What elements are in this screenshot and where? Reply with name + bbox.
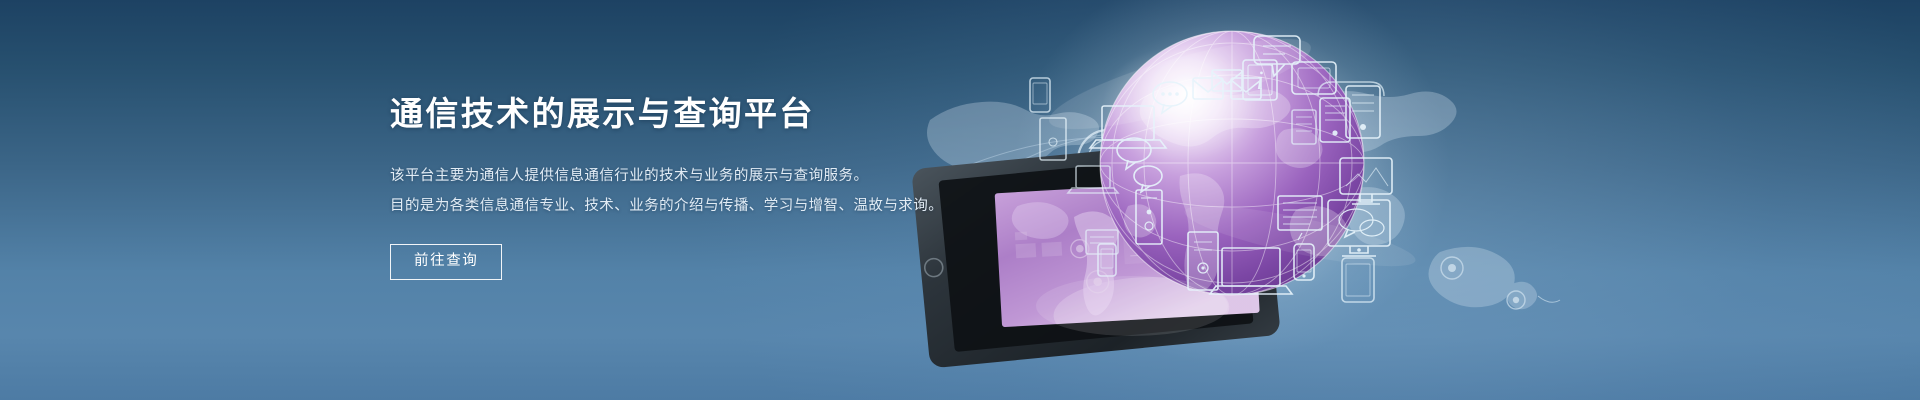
hero-banner: BUSINESS bbox=[0, 0, 1920, 400]
description-line-2: 目的是为各类信息通信专业、技术、业务的介绍与传播、学习与增智、温故与求询。 bbox=[390, 191, 1010, 221]
hero-artwork: BUSINESS bbox=[880, 0, 1920, 400]
hero-copy: 通信技术的展示与查询平台 该平台主要为通信人提供信息通信行业的技术与业务的展示与… bbox=[390, 93, 1010, 280]
hero-description: 该平台主要为通信人提供信息通信行业的技术与业务的展示与查询服务。 目的是为各类信… bbox=[390, 161, 1010, 221]
go-to-query-button[interactable]: 前往查询 bbox=[390, 244, 502, 280]
description-line-1: 该平台主要为通信人提供信息通信行业的技术与业务的展示与查询服务。 bbox=[390, 161, 1010, 191]
page-title: 通信技术的展示与查询平台 bbox=[390, 93, 1010, 134]
